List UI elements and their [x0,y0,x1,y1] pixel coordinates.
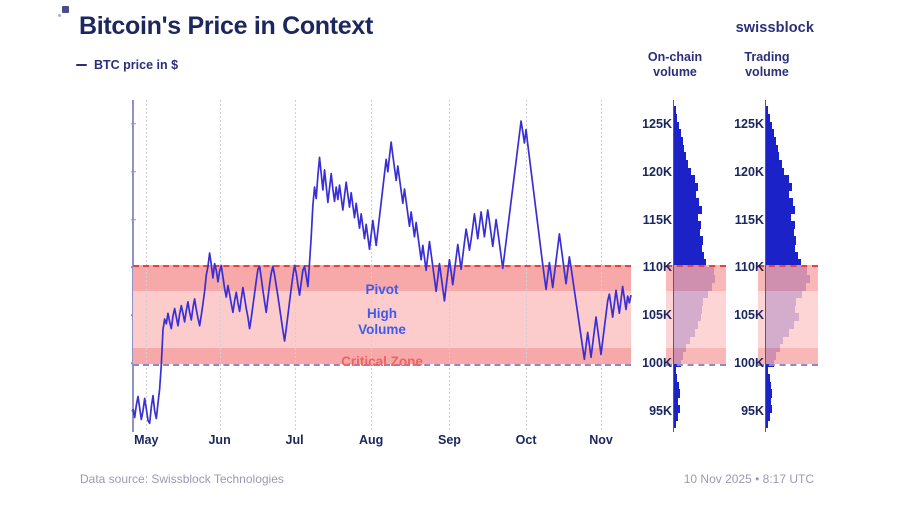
price-y-tick-group: 95K100K105K110K115K120K125K [0,0,128,506]
volume-y-tick-label: 115K [720,213,764,227]
brand-logo: swissblock [736,20,814,36]
volume-axis-on-chain-volume [673,100,675,432]
price-x-tick-label: May [134,433,158,447]
volume-zone-critical-on-chain-volume [666,348,726,364]
volume-zone-high-on-chain-volume [666,291,726,347]
volume-bar [766,420,768,428]
volume-y-tick-label: 100K [720,356,764,370]
price-line-series [133,100,631,430]
legend-line-icon [76,64,87,67]
price-plot-area: PivotHighVolumeCritical Zone [133,100,631,430]
zone-label-pivot: Pivot [133,282,631,298]
price-x-tick-label: Oct [516,433,537,447]
volume-y-tick-label: 105K [628,308,672,322]
price-x-tick-label: Aug [359,433,383,447]
footer-timestamp: 10 Nov 2025 • 8:17 UTC [684,472,814,486]
price-x-tick-label: Jul [286,433,304,447]
legend-label: BTC price in $ [94,58,178,72]
volume-zone-lower-boundary-trading-volume [758,364,818,366]
volume-panel-title-trading-volume: Tradingvolume [744,50,789,80]
volume-axis-trading-volume [765,100,767,432]
price-x-tick-label: Sep [438,433,461,447]
page-title: Bitcoin's Price in Context [79,12,373,41]
volume-y-tick-label: 95K [628,404,672,418]
zone-label-critical: Critical Zone [133,354,631,370]
volume-zone-lower-boundary-on-chain-volume [666,364,726,366]
corner-artifact-icon [62,6,69,13]
volume-y-tick-label: 120K [628,165,672,179]
volume-zone-high-trading-volume [758,291,818,347]
volume-bar [674,420,676,428]
volume-y-tick-label: 125K [628,117,672,131]
volume-y-tick-label: 120K [720,165,764,179]
volume-zone-critical-trading-volume [758,348,818,364]
volume-y-tick-label: 110K [628,260,672,274]
volume-y-tick-label: 110K [720,260,764,274]
price-x-tick-label: Jun [208,433,230,447]
volume-zone-pivot-trading-volume [758,265,818,291]
volume-y-tick-label: 125K [720,117,764,131]
volume-y-tick-label: 115K [628,213,672,227]
legend: BTC price in $ [76,58,178,72]
volume-zone-upper-boundary-on-chain-volume [666,265,726,267]
price-x-tick-label: Nov [589,433,613,447]
volume-y-tick-label: 95K [720,404,764,418]
zone-label-high-volume: HighVolume [133,306,631,339]
volume-panel-title-on-chain-volume: On-chainvolume [648,50,702,80]
footer-source: Data source: Swissblock Technologies [80,472,284,486]
volume-zone-pivot-on-chain-volume [666,265,726,291]
chart-canvas: Bitcoin's Price in Context swissblock BT… [0,0,900,506]
volume-y-tick-label: 105K [720,308,764,322]
volume-y-tick-label: 100K [628,356,672,370]
volume-zone-upper-boundary-trading-volume [758,265,818,267]
